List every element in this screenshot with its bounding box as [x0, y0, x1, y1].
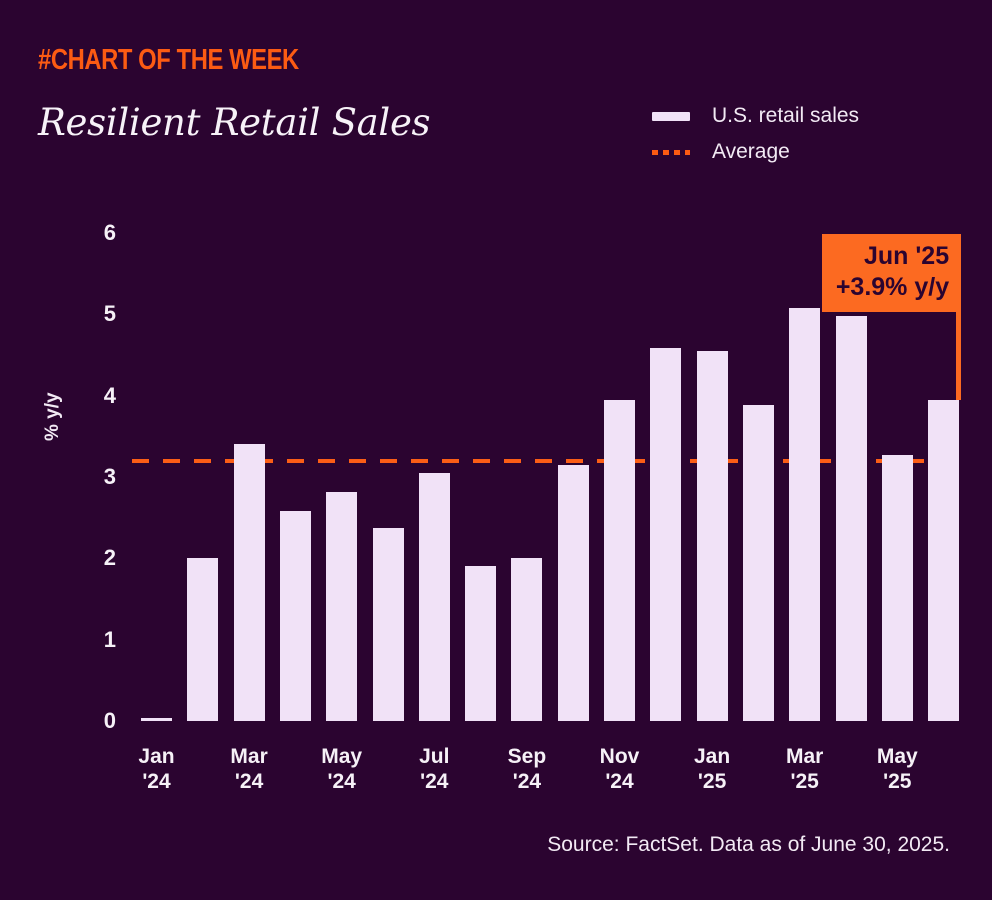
y-axis-tick-4: 4 — [84, 383, 116, 409]
y-axis-tick-0: 0 — [84, 708, 116, 734]
annotation-line-2: +3.9% y/y — [836, 272, 949, 303]
x-axis-tick-May--25: May'25 — [877, 744, 918, 794]
bar-Sep--24[interactable] — [511, 558, 542, 721]
bar-Feb--25[interactable] — [743, 405, 774, 721]
bar-Dec--24[interactable] — [650, 348, 681, 721]
bar-May--25[interactable] — [882, 455, 913, 721]
x-axis-tick-Jan--25: Jan'25 — [694, 744, 730, 794]
bar-May--24[interactable] — [326, 492, 357, 721]
x-axis-tick-Mar--25: Mar'25 — [786, 744, 823, 794]
bar-Oct--24[interactable] — [558, 465, 589, 721]
bar-Apr--24[interactable] — [280, 511, 311, 721]
y-axis-tick-6: 6 — [84, 220, 116, 246]
y-axis-tick-1: 1 — [84, 627, 116, 653]
y-axis-tick-3: 3 — [84, 464, 116, 490]
x-axis-tick-Mar--24: Mar'24 — [230, 744, 267, 794]
source-note: Source: FactSet. Data as of June 30, 202… — [547, 833, 950, 857]
x-axis-tick-Sep--24: Sep'24 — [508, 744, 547, 794]
x-axis-tick-Jan--24: Jan'24 — [138, 744, 174, 794]
bar-Apr--25[interactable] — [836, 316, 867, 721]
bar-Aug--24[interactable] — [465, 566, 496, 721]
annotation-leader-line — [956, 234, 961, 400]
x-axis-tick-Jul--24: Jul'24 — [419, 744, 449, 794]
bar-Jun--24[interactable] — [373, 528, 404, 721]
bar-Mar--25[interactable] — [789, 308, 820, 721]
x-axis-tick-May--24: May'24 — [321, 744, 362, 794]
y-axis-title: % y/y — [42, 392, 64, 441]
annotation-line-1: Jun '25 — [836, 241, 949, 272]
bar-Jul--24[interactable] — [419, 473, 450, 721]
bar-Jun--25[interactable] — [928, 400, 959, 721]
bar-Mar--24[interactable] — [234, 444, 265, 721]
bar-Feb--24[interactable] — [187, 558, 218, 721]
bar-Nov--24[interactable] — [604, 400, 635, 721]
annotation-callout: Jun '25 +3.9% y/y — [822, 234, 961, 312]
bar-Jan--24[interactable] — [141, 718, 172, 721]
bar-Jan--25[interactable] — [697, 351, 728, 721]
y-axis-tick-2: 2 — [84, 545, 116, 571]
x-axis-tick-Nov--24: Nov'24 — [600, 744, 640, 794]
y-axis-tick-5: 5 — [84, 301, 116, 327]
plot-area: % y/y 0123456Jan'24Mar'24May'24Jul'24Sep… — [0, 0, 992, 900]
chart-canvas: #CHART OF THE WEEK Resilient Retail Sale… — [0, 0, 992, 900]
